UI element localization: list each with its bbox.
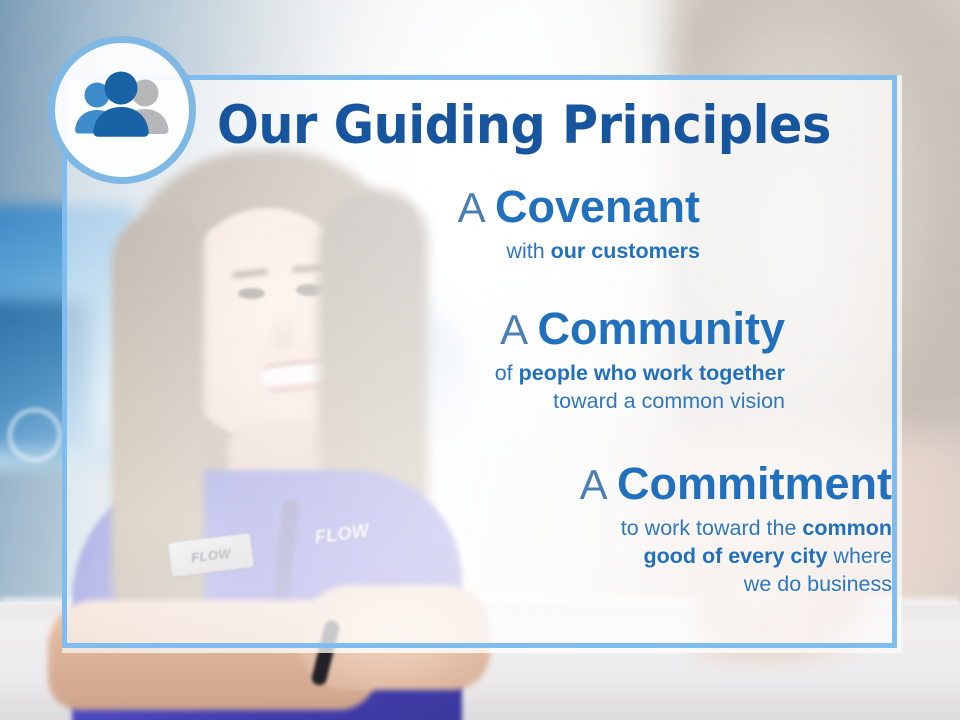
principle-covenant: A Covenant with our customers bbox=[458, 183, 700, 265]
principle-covenant-article: A bbox=[458, 184, 495, 231]
principle-commitment-article: A bbox=[580, 461, 617, 508]
principle-community: A Community of people who work togethert… bbox=[495, 305, 785, 415]
principle-community-article: A bbox=[500, 306, 537, 353]
principle-community-heading: A Community bbox=[495, 305, 785, 353]
page-title: Our Guiding Principles bbox=[217, 95, 831, 156]
principle-community-keyword: Community bbox=[538, 303, 786, 354]
principle-community-subtext: of people who work togethertoward a comm… bbox=[495, 359, 785, 416]
principle-covenant-heading: A Covenant bbox=[458, 183, 700, 231]
promotional-banner: FLOW FLOW Our Guiding Principles bbox=[0, 0, 960, 720]
dealership-emblem bbox=[8, 408, 62, 462]
principle-covenant-keyword: Covenant bbox=[495, 181, 700, 232]
content-area: Our Guiding Principles A Covenant with o… bbox=[62, 75, 897, 648]
principle-commitment-subtext: to work toward the commongood of every c… bbox=[580, 514, 892, 599]
principle-commitment-heading: A Commitment bbox=[580, 460, 892, 508]
principle-commitment-keyword: Commitment bbox=[617, 458, 892, 509]
principle-covenant-subtext: with our customers bbox=[458, 237, 700, 265]
principle-commitment: A Commitment to work toward the commongo… bbox=[580, 460, 892, 599]
